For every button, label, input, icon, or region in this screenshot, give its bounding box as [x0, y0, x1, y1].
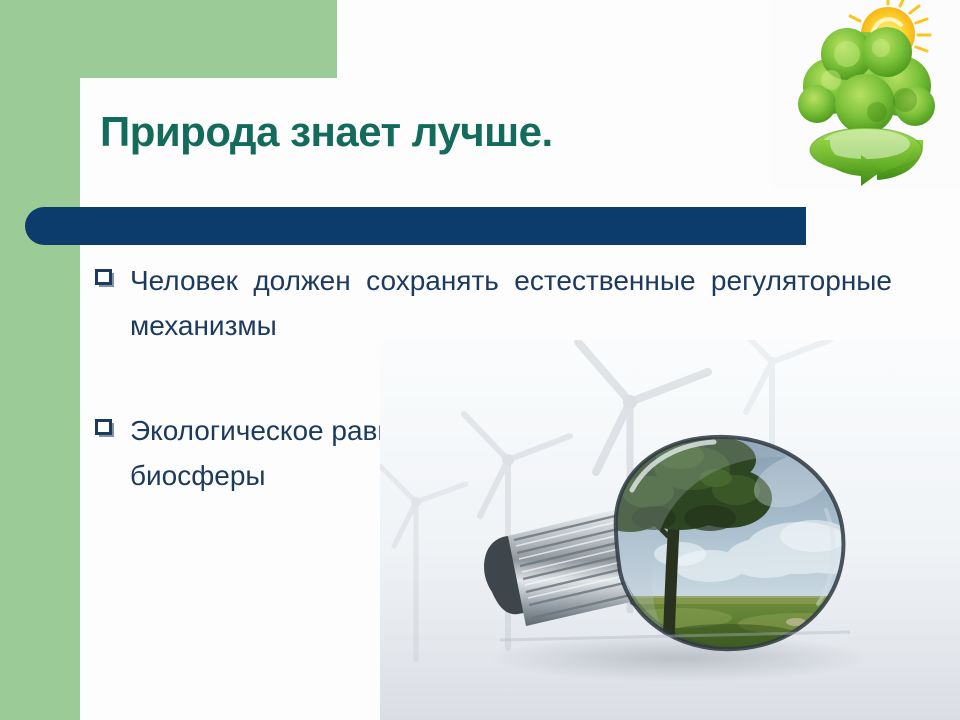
eco-tree-sun-recycle-logo: [773, 0, 960, 190]
lightbulb-photo-graphic: [380, 340, 960, 720]
green-left-strip: [0, 0, 80, 720]
eco-logo-graphic: [773, 0, 960, 190]
hollow-square-bullet-icon: [95, 269, 112, 285]
hollow-square-bullet-icon: [95, 419, 112, 435]
presentation-slide: Природа знает лучше. Человек должен сохр…: [0, 0, 960, 720]
green-top-block: [0, 0, 337, 78]
navy-title-divider-bar: [25, 207, 806, 245]
page-title: Природа знает лучше.: [100, 108, 553, 156]
lightbulb-with-tree-and-wind-turbines-photo: [380, 340, 960, 720]
